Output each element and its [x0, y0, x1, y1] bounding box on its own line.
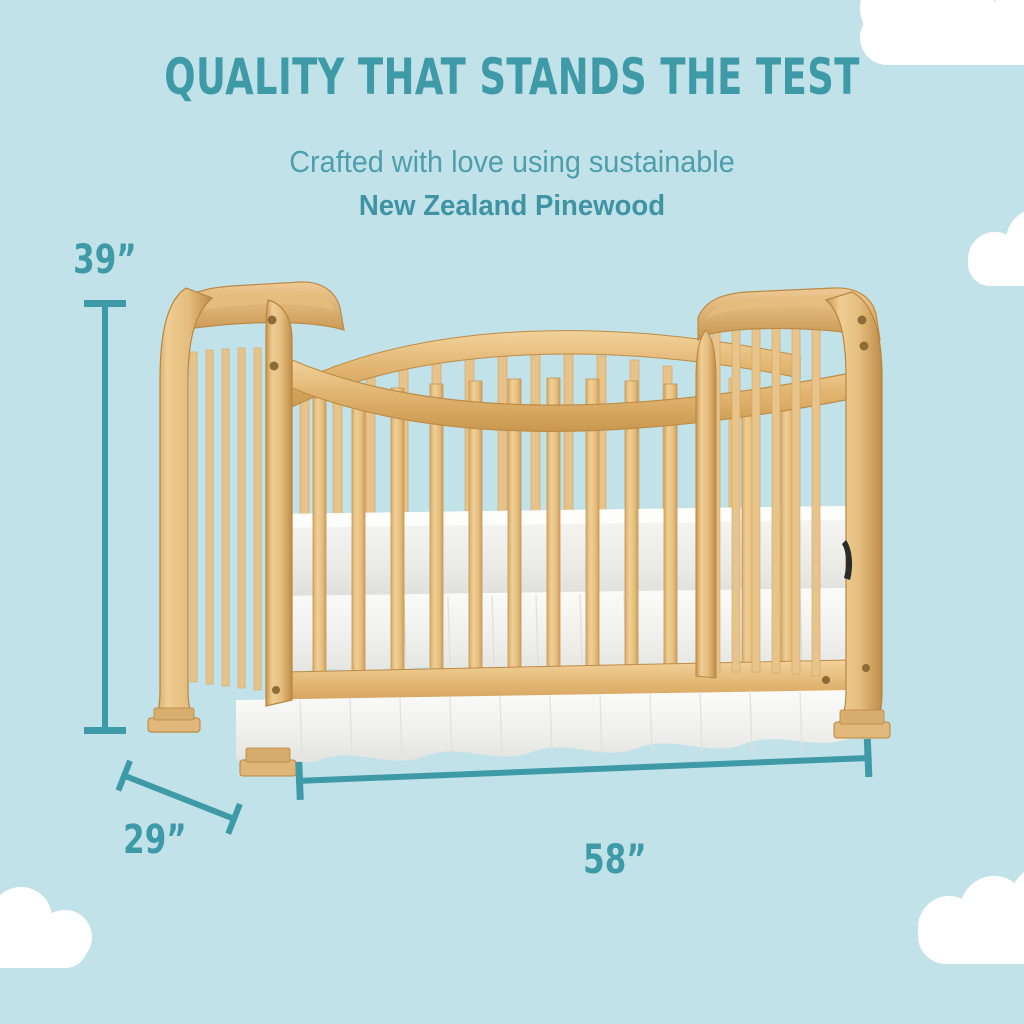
- height-dimension-cap-top: [84, 300, 126, 307]
- width-dimension-line: [296, 755, 872, 784]
- width-dimension-cap-left: [295, 762, 304, 800]
- width-dimension-cap-right: [864, 739, 873, 777]
- subtitle-line-1: Crafted with love using sustainable: [36, 144, 988, 180]
- height-dimension-label: 39”: [73, 240, 136, 280]
- height-dimension-cap-bottom: [84, 727, 126, 734]
- height-dimension-line: [102, 300, 108, 734]
- depth-dimension-label: 29”: [123, 820, 186, 860]
- subtitle-line-2: New Zealand Pinewood: [26, 190, 999, 223]
- width-dimension-label: 58”: [583, 840, 646, 880]
- page-title: QUALITY THAT STANDS THE TEST: [92, 52, 932, 102]
- infographic-canvas: QUALITY THAT STANDS THE TEST Crafted wit…: [0, 0, 1024, 1024]
